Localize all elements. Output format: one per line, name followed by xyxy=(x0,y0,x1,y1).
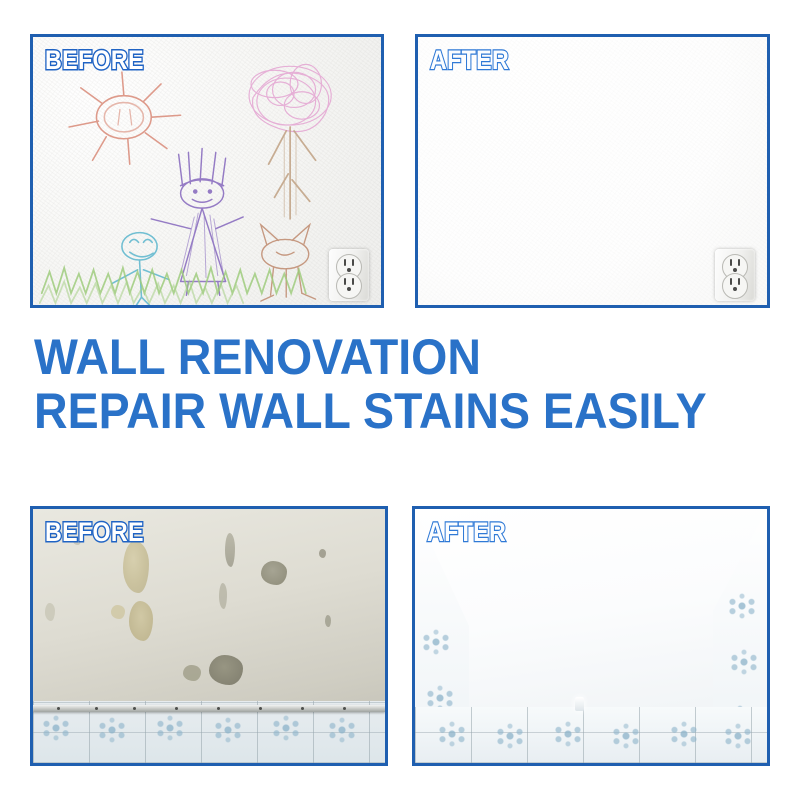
tile-floral-motif xyxy=(269,715,303,741)
tree-trunk-drawing xyxy=(269,127,316,219)
label-after-ceiling: AFTER xyxy=(427,519,506,546)
damage-patch xyxy=(325,615,331,627)
tile-floral-motif xyxy=(153,715,187,741)
tile-floral-motif xyxy=(95,717,129,743)
ceiling-after-photo xyxy=(415,509,767,763)
damage-patch xyxy=(209,655,243,685)
bottom-tile-wall xyxy=(415,707,767,763)
tile-floral-motif xyxy=(493,723,527,749)
tile-floral-motif xyxy=(609,723,643,749)
damage-patch xyxy=(319,549,326,558)
grass-drawing xyxy=(40,268,306,303)
princess-drawing xyxy=(151,149,243,296)
crayon-wall-after-photo xyxy=(418,37,767,305)
headline-line-2: REPAIR WALL STAINS EASILY xyxy=(34,384,722,438)
page-title: WALL RENOVATION REPAIR WALL STAINS EASIL… xyxy=(34,330,722,438)
tile-floral-motif xyxy=(325,717,359,743)
panel-crayon-before: BEFORE xyxy=(30,34,384,308)
damage-patch xyxy=(261,561,287,585)
label-after-crayon: AFTER xyxy=(430,47,509,74)
damage-patch xyxy=(123,541,149,593)
tile-floral-motif xyxy=(211,717,245,743)
panel-ceiling-before: BEFORE xyxy=(30,506,388,766)
label-before-crayon: BEFORE xyxy=(45,47,144,74)
electrical-outlet xyxy=(715,249,755,301)
tile-floral-motif xyxy=(725,593,759,619)
ceiling-before-photo xyxy=(33,509,385,763)
tile-floral-motif xyxy=(721,723,755,749)
tile-floral-motif xyxy=(667,721,701,747)
damage-patch xyxy=(45,603,55,621)
cat-drawing xyxy=(261,225,316,301)
tile-floral-motif xyxy=(435,721,469,747)
damage-patch xyxy=(225,533,235,567)
panel-ceiling-after: AFTER xyxy=(412,506,770,766)
tile-floral-motif xyxy=(727,649,761,675)
tile-floral-motif xyxy=(551,721,585,747)
tile-floral-motif xyxy=(39,715,73,741)
label-before-ceiling: BEFORE xyxy=(45,519,144,546)
sun-drawing xyxy=(69,72,181,164)
headline-line-1: WALL RENOVATION xyxy=(34,329,481,385)
ceiling-metal-strip xyxy=(33,705,385,712)
tile-floral-motif xyxy=(419,629,453,655)
damage-patch xyxy=(129,601,153,641)
electrical-outlet xyxy=(329,249,369,301)
product-ad-canvas: BEFORE AFTER WALL RENOVATION REPAIR WALL… xyxy=(0,0,800,800)
damage-patch xyxy=(219,583,227,609)
tree-crown-drawing xyxy=(249,64,331,131)
ceiling-fixture xyxy=(575,697,584,711)
stick-figure-drawing xyxy=(112,233,169,305)
crayon-wall-before-photo xyxy=(33,37,381,305)
damage-patch xyxy=(183,665,201,681)
damage-patch xyxy=(111,605,125,619)
panel-crayon-after: AFTER xyxy=(415,34,770,308)
